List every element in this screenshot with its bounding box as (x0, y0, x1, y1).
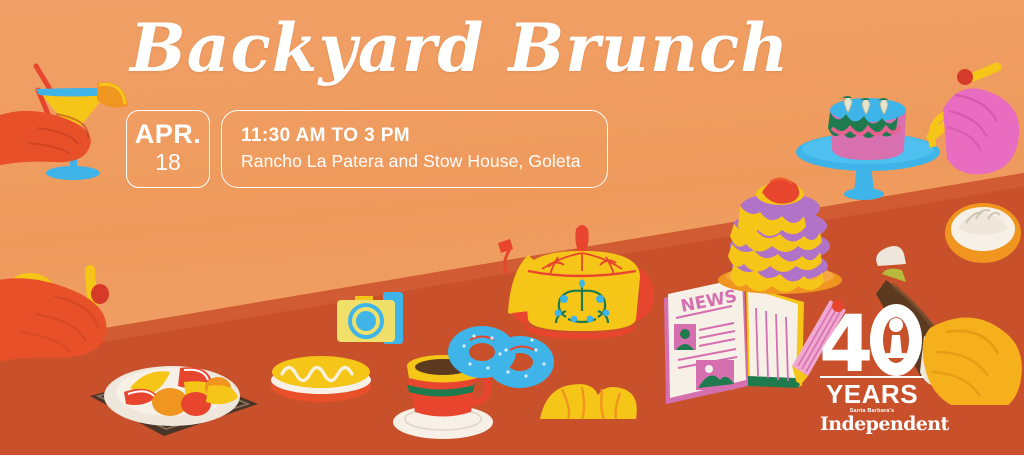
event-location: Rancho La Patera and Stow House, Goleta (241, 149, 581, 174)
camera-icon (333, 288, 413, 350)
decorated-teapot-icon (488, 215, 660, 347)
logo-masthead: Independent (820, 415, 924, 434)
event-banner: Backyard Brunch APR. 18 11:30 AM TO 3 PM… (0, 0, 1024, 455)
logo-forty-graphic: 4 (820, 303, 924, 377)
date-month: APR. (135, 120, 202, 148)
date-day: 18 (155, 148, 181, 177)
event-info-row: APR. 18 11:30 AM TO 3 PM Rancho La Pater… (126, 110, 608, 188)
glazed-eclair-icon (266, 348, 376, 406)
logo-number-four: 4 (820, 303, 873, 377)
logo-years-label: YEARS (820, 376, 924, 407)
banner-title: Backyard Brunch (130, 14, 789, 83)
hand-holding-cake-knife-icon (925, 55, 1024, 180)
event-details: 11:30 AM TO 3 PM Rancho La Patera and St… (221, 110, 608, 188)
croissant-icon (532, 375, 642, 435)
hand-holding-cocktail-icon (0, 48, 143, 193)
plate-of-fruit-icon (72, 330, 272, 448)
event-time: 11:30 AM TO 3 PM (241, 123, 581, 149)
anniversary-logo: 4 YEARS Santa Barbara's Independent (820, 303, 924, 434)
